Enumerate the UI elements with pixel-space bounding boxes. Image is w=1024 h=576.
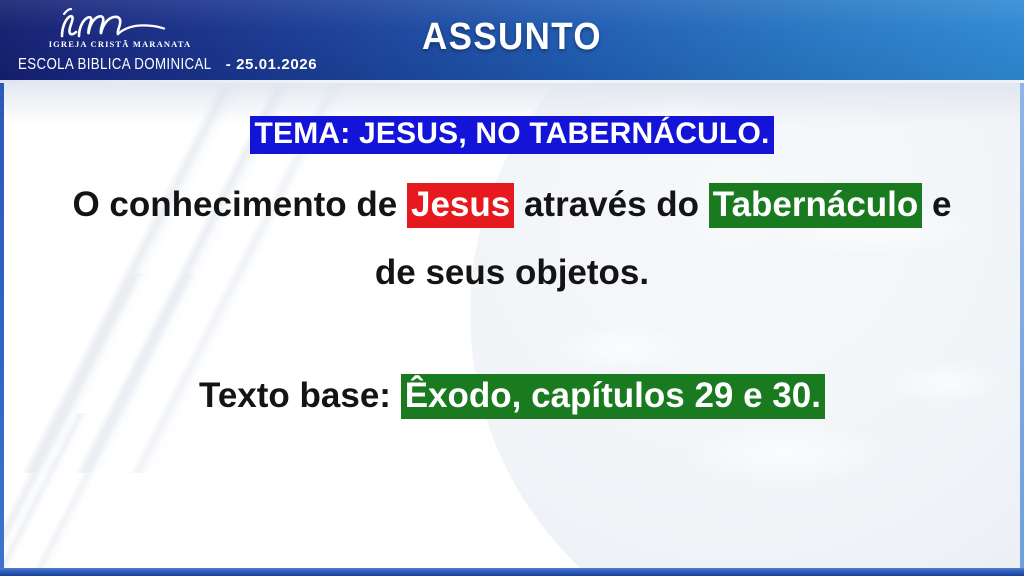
paragraph-line-2: de seus objetos. — [24, 255, 1000, 290]
reference-label: Texto base: — [199, 376, 401, 415]
jesus-highlight: Jesus — [407, 183, 514, 228]
paragraph-text-segment-3: e — [922, 185, 951, 224]
slide-body: TEMA: JESUS, NO TABERNÁCULO. O conhecime… — [0, 83, 1024, 576]
paragraph-text-segment-2: através do — [514, 185, 709, 224]
paragraph-text-segment-4: de seus objetos. — [375, 253, 649, 292]
reference-highlight: Êxodo, capítulos 29 e 30. — [401, 374, 825, 419]
theme-line-text: TEMA: JESUS, NO TABERNÁCULO. — [250, 116, 773, 154]
paragraph-text-segment-1: O conhecimento de — [72, 185, 407, 224]
presentation-slide: IGREJA CRISTÃ MARANATA ESCOLA BIBLICA DO… — [0, 0, 1024, 576]
tabernaculo-highlight: Tabernáculo — [709, 183, 923, 228]
reference-line: Texto base: Êxodo, capítulos 29 e 30. — [24, 378, 1000, 413]
theme-line-row: TEMA: JESUS, NO TABERNÁCULO. — [0, 116, 1024, 154]
slide-content: TEMA: JESUS, NO TABERNÁCULO. O conhecime… — [0, 83, 1024, 576]
paragraph-line-1: O conhecimento de Jesus através do Taber… — [24, 187, 1000, 222]
slide-header-bar: IGREJA CRISTÃ MARANATA ESCOLA BIBLICA DO… — [0, 0, 1024, 80]
page-title: ASSUNTO — [41, 16, 983, 59]
